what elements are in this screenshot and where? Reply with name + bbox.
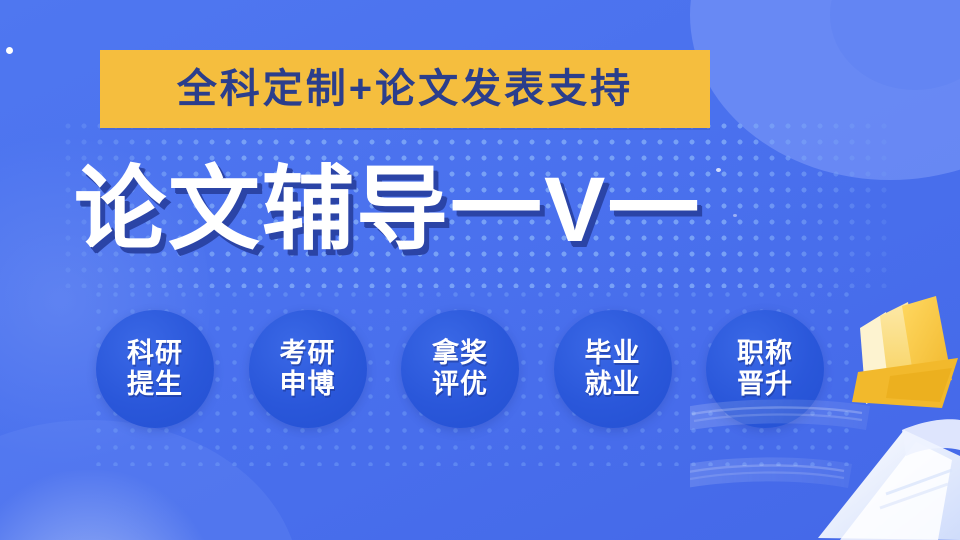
- page-title: 论文辅导一V一: [74, 150, 894, 270]
- badge-line-1: 考研: [280, 338, 336, 369]
- badge-row: 科研 提生 考研 申博 拿奖 评优 毕业 就业 职称 晋升: [96, 308, 824, 430]
- badge-line-2: 就业: [585, 369, 641, 400]
- badge-line-1: 职称: [737, 338, 793, 369]
- badge-line-2: 晋升: [737, 369, 793, 400]
- speck-dot: [6, 47, 13, 54]
- badge-keyan-tisheng[interactable]: 科研 提生: [96, 310, 214, 428]
- ribbon-banner: 全科定制+论文发表支持: [100, 50, 710, 128]
- badge-kaoyan-shenbo[interactable]: 考研 申博: [249, 310, 367, 428]
- badge-line-2: 申博: [280, 369, 336, 400]
- badge-line-2: 评优: [432, 369, 488, 400]
- badge-line-1: 拿奖: [432, 338, 488, 369]
- promo-poster: 全科定制+论文发表支持 论文辅导一V一 科研 提生 考研 申博 拿奖 评优 毕业…: [0, 0, 960, 540]
- badge-biye-jiuye[interactable]: 毕业 就业: [554, 310, 672, 428]
- badge-zhicheng-jinsheng[interactable]: 职称 晋升: [706, 310, 824, 428]
- badge-line-1: 毕业: [585, 338, 641, 369]
- badge-line-2: 提生: [127, 369, 183, 400]
- badge-najiang-pingyou[interactable]: 拿奖 评优: [401, 310, 519, 428]
- badge-line-1: 科研: [127, 338, 183, 369]
- ribbon-text: 全科定制+论文发表支持: [177, 69, 633, 109]
